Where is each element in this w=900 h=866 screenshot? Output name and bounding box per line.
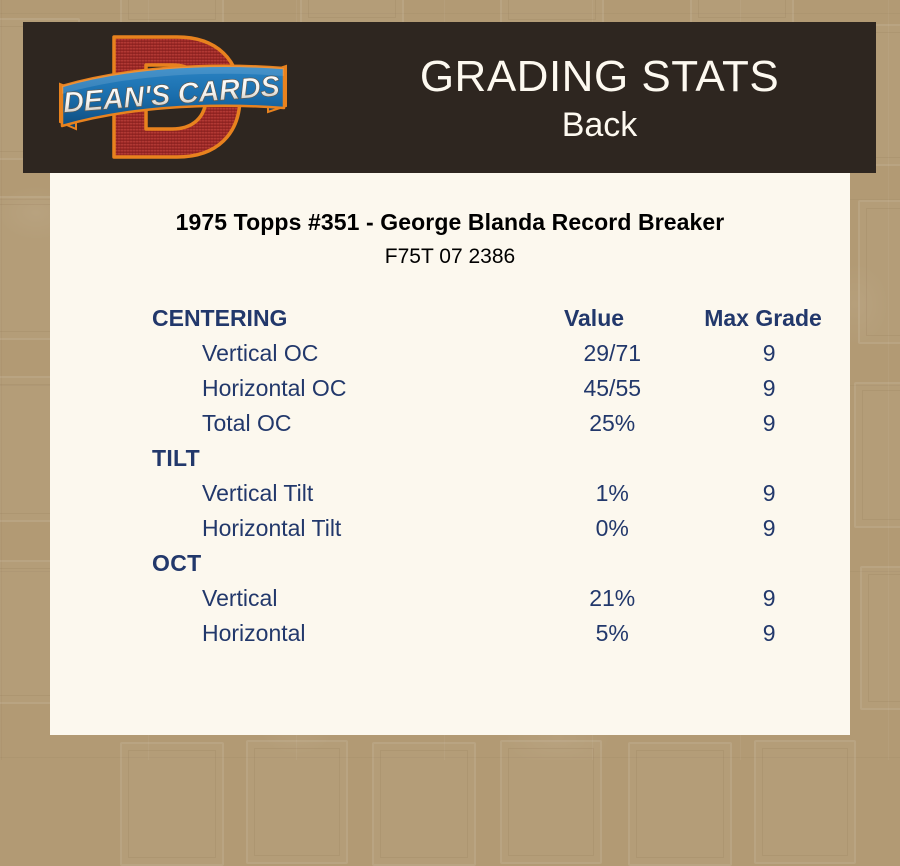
- row-label: Horizontal OC: [152, 375, 534, 402]
- watermark-card: [372, 742, 476, 866]
- watermark-card: [858, 200, 900, 344]
- row-max-grade: 9: [690, 375, 848, 402]
- content-panel: 1975 Topps #351 - George Blanda Record B…: [50, 173, 850, 735]
- row-max-grade: 9: [690, 410, 848, 437]
- table-row: Horizontal5%9: [152, 620, 848, 655]
- table-row: Horizontal OC45/559: [152, 375, 848, 410]
- card-title: 1975 Topps #351 - George Blanda Record B…: [50, 209, 850, 236]
- row-value: 21%: [534, 585, 690, 612]
- grading-stats-table: CENTERINGValueMax GradeVertical OC29/719…: [152, 305, 848, 655]
- watermark-card: [500, 740, 602, 864]
- section-heading: OCT: [152, 550, 510, 577]
- row-label: Vertical Tilt: [152, 480, 534, 507]
- row-value: 25%: [534, 410, 690, 437]
- table-row: Vertical21%9: [152, 585, 848, 620]
- row-value: 29/71: [534, 340, 690, 367]
- deans-cards-logo-svg: DEAN'S CARDS: [54, 24, 294, 170]
- row-label: Total OC: [152, 410, 534, 437]
- watermark-card: [628, 742, 732, 866]
- watermark-card: [246, 740, 348, 864]
- table-section-row: TILT: [152, 445, 848, 480]
- row-label: Horizontal Tilt: [152, 515, 534, 542]
- watermark-card: [120, 742, 224, 866]
- card-code: F75T 07 2386: [50, 245, 850, 269]
- column-header-grade: Max Grade: [678, 305, 848, 332]
- table-row: Vertical OC29/719: [152, 340, 848, 375]
- watermark-card: [754, 740, 856, 864]
- table-row: Vertical Tilt1%9: [152, 480, 848, 515]
- column-header-value: Value: [510, 305, 678, 332]
- table-row: Total OC25%9: [152, 410, 848, 445]
- row-max-grade: 9: [690, 480, 848, 507]
- row-max-grade: 9: [690, 340, 848, 367]
- row-value: 45/55: [534, 375, 690, 402]
- header-bar: DEAN'S CARDS GRADING STATS Back: [23, 22, 876, 173]
- row-label: Vertical OC: [152, 340, 534, 367]
- table-section-row: OCT: [152, 550, 848, 585]
- section-heading: TILT: [152, 445, 510, 472]
- row-max-grade: 9: [690, 620, 848, 647]
- row-value: 0%: [534, 515, 690, 542]
- row-value: 1%: [534, 480, 690, 507]
- row-value: 5%: [534, 620, 690, 647]
- table-header-row: CENTERINGValueMax Grade: [152, 305, 848, 340]
- deans-cards-logo[interactable]: DEAN'S CARDS: [54, 24, 294, 170]
- table-row: Horizontal Tilt0%9: [152, 515, 848, 550]
- row-label: Horizontal: [152, 620, 534, 647]
- watermark-card: [854, 382, 900, 528]
- row-label: Vertical: [152, 585, 534, 612]
- row-max-grade: 9: [690, 515, 848, 542]
- column-header-label: CENTERING: [152, 305, 510, 332]
- page-subtitle: Back: [562, 105, 638, 145]
- page-title: GRADING STATS: [420, 51, 779, 103]
- watermark-card: [860, 566, 900, 710]
- header-title-group: GRADING STATS Back: [323, 22, 876, 173]
- row-max-grade: 9: [690, 585, 848, 612]
